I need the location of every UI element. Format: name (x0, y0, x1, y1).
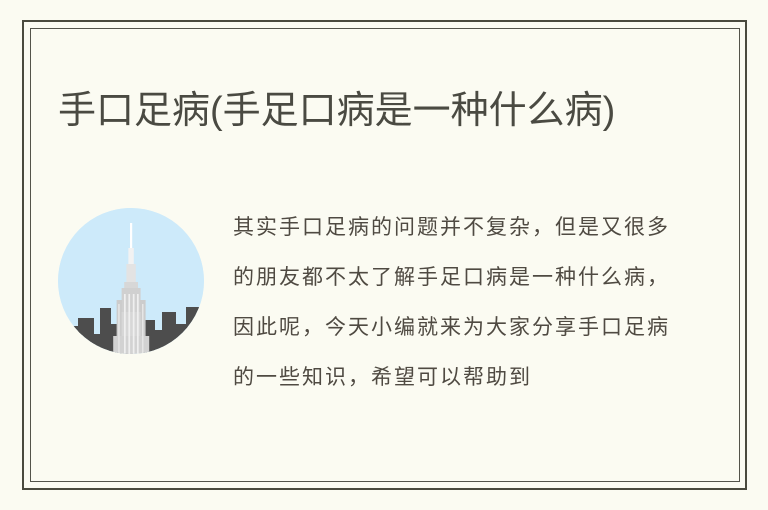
article-thumbnail (58, 208, 204, 354)
article-body-text: 其实手口足病的问题并不复杂，但是又很多的朋友都不太了解手足口病是一种什么病，因此… (233, 200, 688, 402)
article-block: 其实手口足病的问题并不复杂，但是又很多的朋友都不太了解手足口病是一种什么病，因此… (58, 200, 688, 402)
page-root: 手口足病(手足口病是一种什么病) (0, 0, 768, 510)
page-title: 手口足病(手足口病是一种什么病) (58, 83, 718, 139)
article-thumbnail-wrap (58, 200, 208, 354)
empire-state-building-icon (58, 208, 204, 354)
